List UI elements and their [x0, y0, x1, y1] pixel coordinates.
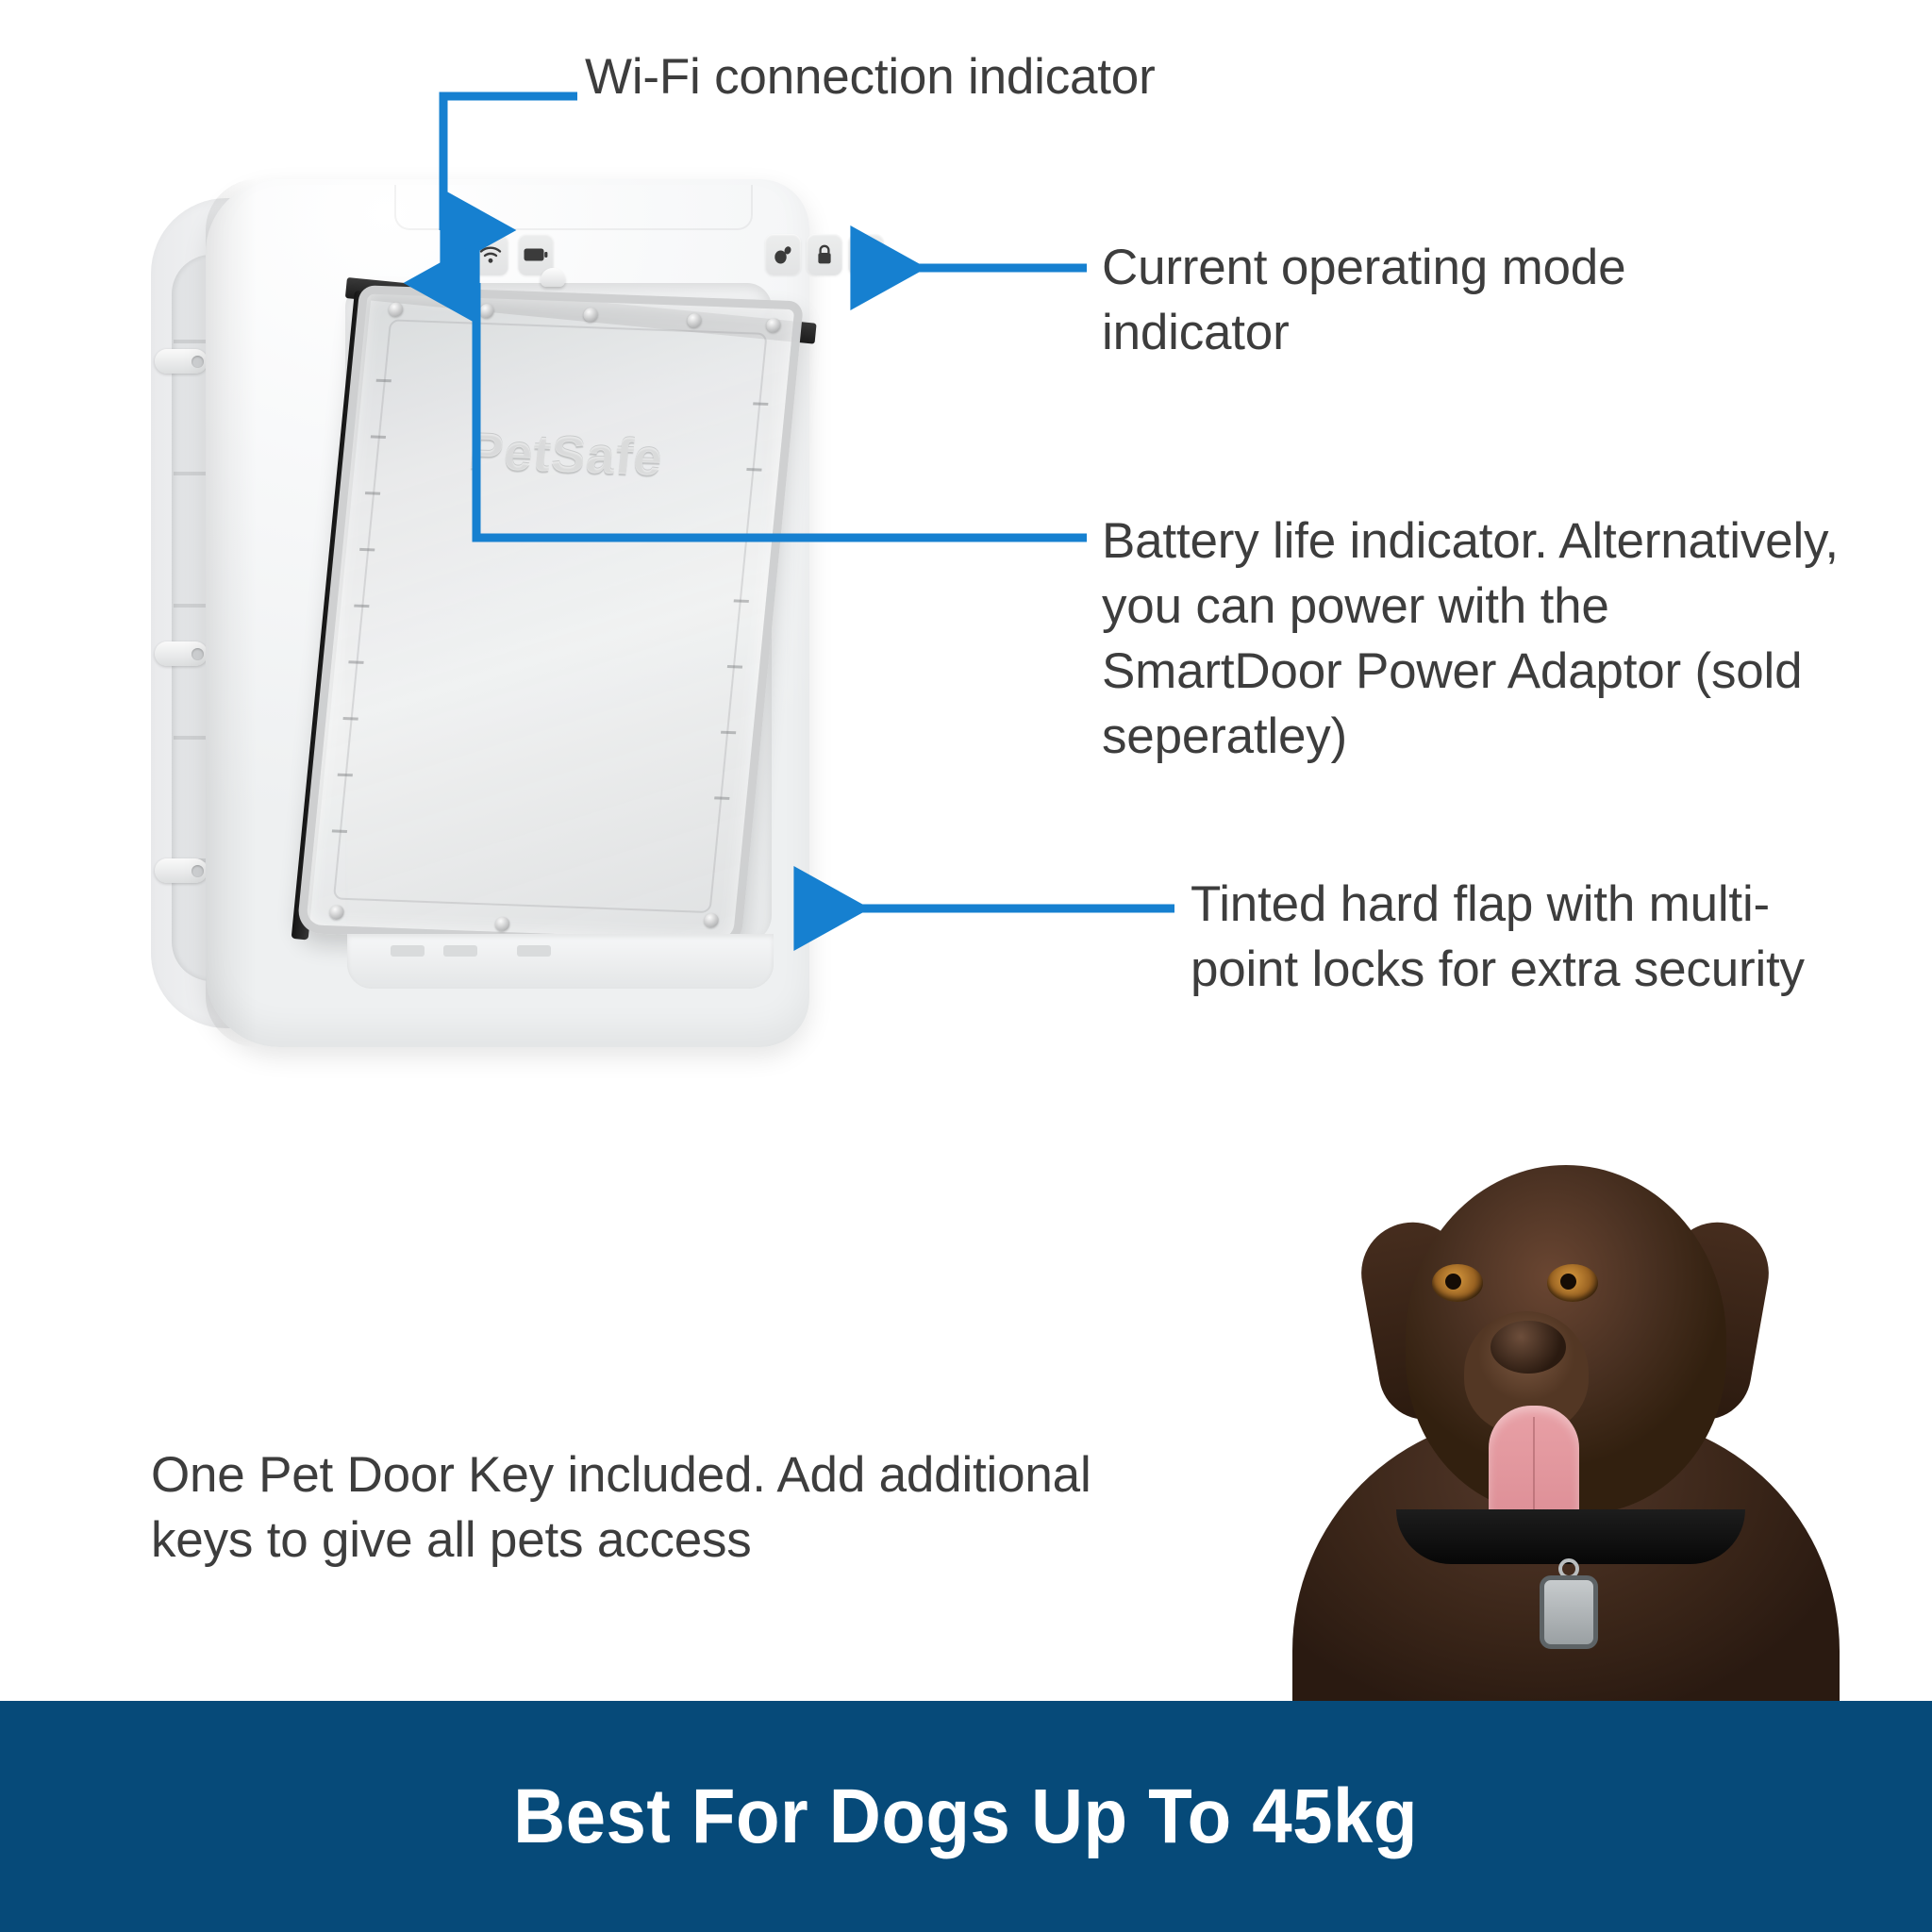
- callout-mode-label: Current operating mode indicator: [1102, 236, 1630, 366]
- flap-tick: [734, 599, 749, 603]
- flap-screw: [329, 905, 344, 919]
- frame-hinge-pin: [155, 641, 208, 666]
- flap-tick: [342, 717, 358, 721]
- flap-tick: [354, 605, 369, 608]
- battery-icon: [524, 247, 548, 262]
- callout-key-label: One Pet Door Key included. Add additiona…: [151, 1443, 1189, 1574]
- flap-tick: [727, 665, 742, 669]
- bottom-banner: Best For Dogs Up To 45kg: [0, 1701, 1932, 1932]
- callout-battery-label: Battery life indicator. Alternatively, y…: [1102, 509, 1857, 770]
- multi-point-lock: [391, 945, 425, 957]
- flap-inner-seam: [333, 319, 768, 913]
- lock-closed-icon: [815, 243, 834, 266]
- flap-tick: [714, 796, 729, 800]
- unlocked-mode-indicator[interactable]: [848, 234, 884, 275]
- dog-nose: [1491, 1321, 1566, 1374]
- flap-screw: [687, 313, 702, 327]
- flap-screw: [766, 318, 781, 332]
- multi-point-lock: [517, 945, 551, 957]
- pet-door-front-frame: PetSafe: [206, 179, 809, 1047]
- dog-collar: [1396, 1509, 1745, 1564]
- callout-wifi-label: Wi-Fi connection indicator: [585, 45, 1189, 110]
- pet-door-key-tag: [1540, 1575, 1598, 1649]
- frame-hinge-pin: [155, 858, 208, 883]
- flap-panel: PetSafe: [296, 285, 804, 949]
- flap-tick: [753, 402, 768, 406]
- flap-screw: [494, 917, 509, 931]
- flap-tick: [746, 468, 761, 472]
- flap-tick: [338, 774, 353, 777]
- pet-door-product-image: PetSafe: [142, 179, 924, 1047]
- pet-mode-indicator[interactable]: [765, 234, 801, 275]
- flap-tick: [348, 660, 363, 664]
- paw-icon: [773, 244, 793, 265]
- multi-point-lock: [443, 945, 477, 957]
- dog-eye-right: [1547, 1264, 1598, 1302]
- callout-flap-label: Tinted hard flap with multi-point locks …: [1191, 873, 1813, 1003]
- flap-screw: [388, 302, 403, 316]
- infographic-canvas: PetSafe: [0, 0, 1932, 1932]
- flap-screw: [704, 913, 719, 927]
- flap-tick: [332, 829, 347, 833]
- pet-door-sill: [347, 934, 774, 989]
- flap-tick: [371, 435, 386, 439]
- banner-headline: Best For Dogs Up To 45kg: [514, 1773, 1419, 1861]
- tinted-hard-flap[interactable]: PetSafe: [277, 264, 876, 997]
- flap-tick: [359, 548, 375, 552]
- flap-tick: [376, 379, 391, 383]
- dog-eye-left: [1432, 1264, 1483, 1302]
- dog-photo: [1264, 1132, 1868, 1712]
- locked-mode-indicator[interactable]: [807, 234, 842, 275]
- flap-screw: [583, 308, 598, 322]
- lock-open-icon: [856, 243, 876, 266]
- wifi-icon: [479, 245, 502, 264]
- bezel-seam: [394, 185, 753, 230]
- frame-hinge-pin: [155, 349, 208, 374]
- flap-tick: [740, 534, 755, 538]
- flap-screw: [479, 304, 494, 318]
- flap-tick: [721, 731, 736, 735]
- flap-tick: [365, 491, 380, 495]
